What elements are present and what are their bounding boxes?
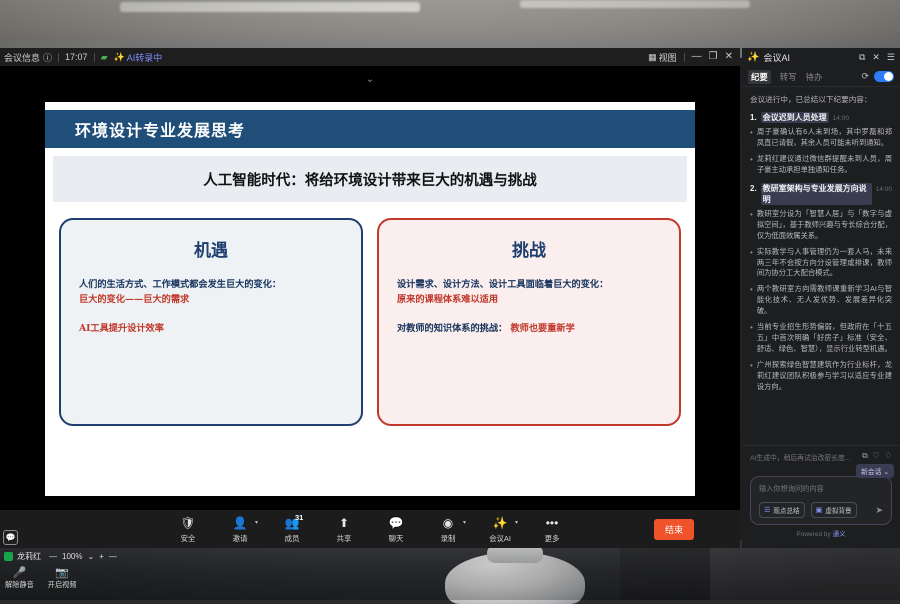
ai-recording-status: ✨ AI转录中: [113, 51, 162, 64]
screen: 会议信息 ⓘ 17:07 ▰ ✨ AI转录中 ▦ 视图 — ❐ ✕: [0, 0, 900, 600]
divider: [684, 53, 685, 62]
share-stage: ⌄ 环境设计专业发展思考 人工智能时代：将给环境设计带来巨大的机遇与挑战 机遇 …: [0, 66, 740, 528]
card-challenge-line3-dark: 对教师的知识体系的挑战：: [397, 323, 507, 334]
toolbar-item-invite[interactable]: 👤 ▾ 邀请: [222, 514, 258, 544]
end-meeting-button[interactable]: 结束: [654, 519, 694, 540]
ai-quick-chips: ☰ 观点总结 ▣ 虚拟背景 ➤: [759, 502, 883, 518]
card-opportunity-title: 机遇: [79, 236, 343, 261]
auto-summary-toggle[interactable]: [874, 71, 894, 82]
bullet-dot: •: [750, 127, 753, 149]
restore-button[interactable]: ❐: [709, 52, 718, 62]
camera-off-icon: 📷: [55, 566, 69, 579]
image-icon: ▣: [816, 506, 823, 514]
zoom-out-button[interactable]: —: [49, 552, 57, 561]
bullet-text: 龙莉红建议通过微信群提醒未到人员，周子豪主动承担单独通知任务。: [757, 154, 892, 176]
ai-recording-label: AI转录中: [127, 51, 163, 64]
chat-bubble-icon: 💬: [388, 514, 405, 531]
section-timestamp: 14:00: [876, 186, 892, 193]
summary-bullet: • 实际教学与人事管理仍为一套人马，未来两三年不会按方向分设管理或排课，教师间为…: [750, 247, 892, 280]
card-challenge-line3: 对教师的知识体系的挑战： 教师也要重新学: [397, 321, 661, 336]
summary-section-header: 2. 教研室架构与专业发展方向说明 14:00: [750, 183, 892, 205]
spacer: [397, 307, 661, 321]
camera-toggle-label: 开启视频: [48, 580, 77, 590]
section-title: 教研室架构与专业发展方向说明: [761, 183, 872, 205]
powered-by-prefix: Powered by: [796, 531, 832, 538]
summary-bullet: • 龙莉红建议通过微信群提醒未到人员，周子豪主动承担单独通知任务。: [750, 154, 892, 176]
toolbar-label-chat: 聊天: [389, 533, 404, 544]
ai-input-placeholder: 输入你想询问的内容: [759, 484, 883, 494]
slide-cards: 机遇 人们的生活方式、工作模式都会发生巨大的变化： 巨大的变化——巨大的需求 A…: [45, 202, 695, 426]
bullet-text: 两个教研室方向需教师课重新学习AI与智能化技术、无人发优势、发展差异化突破。: [757, 284, 892, 317]
thumbs-down-icon[interactable]: ♢: [885, 451, 892, 461]
chevron-down-icon[interactable]: ▾: [515, 519, 518, 526]
card-challenge-title: 挑战: [397, 236, 661, 261]
summary-bullet: • 教研室分设为「智慧人居」与「数字与虚拟空间」，基于教师兴趣与专长综合分配，仅…: [750, 209, 892, 242]
bullet-dot: •: [750, 360, 753, 393]
slide-header-title: 环境设计专业发展思考: [75, 117, 245, 141]
close-button[interactable]: ✕: [725, 52, 733, 62]
card-challenge: 挑战 设计需求、设计方法、设计工具面临着巨大的变化： 原来的课程体系难以适用 对…: [377, 218, 681, 426]
spacer: [79, 307, 343, 321]
mic-toggle-label: 解除静音: [5, 580, 34, 590]
copy-icon[interactable]: ⧉: [862, 451, 868, 461]
tab-transcript[interactable]: 转写: [780, 71, 797, 83]
toolbar-label-more: 更多: [545, 533, 560, 544]
hamburger-icon[interactable]: ☰: [887, 52, 895, 63]
toolbar-item-share[interactable]: ⬆ 共享: [326, 514, 362, 544]
toolbar-label-meeting-ai: 会议AI: [489, 533, 511, 544]
bullet-text: 教研室分设为「智慧人居」与「数字与虚拟空间」，基于教师兴趣与专长综合分配，仅为低…: [757, 209, 892, 242]
zoom-in-button[interactable]: +: [99, 552, 104, 561]
card-opportunity-line2: 巨大的变化——巨大的需求: [79, 292, 343, 307]
av-controls: 🎤 解除静音 📷 开启视频: [5, 566, 77, 590]
sparkle-icon: ✨: [747, 52, 759, 63]
toolbar-item-participants[interactable]: 👥 31 成员: [274, 514, 310, 544]
slide-header: 环境设计专业发展思考: [45, 110, 695, 148]
ai-footer: AI生成中，稍后再试治改密长度... ⧉ ♡ ♢ 新会话 ⌄: [742, 445, 900, 468]
bullet-text: 周子豪确认有6人未到场，其中罗磊和郑凤直已请假，其余人员可能未听到通知。: [757, 127, 892, 149]
chip-label: 虚拟背景: [825, 505, 851, 515]
toolbar-item-chat[interactable]: 💬 聊天: [378, 514, 414, 544]
slide-subtitle: 人工智能时代：将给环境设计带来巨大的机遇与挑战: [203, 169, 537, 190]
ai-panel-actions: ⧉ ✕ ☰: [859, 52, 895, 63]
ai-panel-titlebar: ✨ 会议AI ⧉ ✕ ☰: [742, 48, 900, 67]
zoom-more-button[interactable]: —: [109, 552, 117, 561]
participants-count: 31: [295, 513, 303, 522]
sparkle-icon: ✨: [492, 514, 509, 531]
zoom-value: 100%: [62, 552, 82, 561]
divider: [58, 53, 59, 62]
view-button[interactable]: ▦ 视图: [648, 51, 677, 64]
meeting-timer: 17:07: [65, 52, 88, 62]
titlebar-right-controls: ▦ 视图 — ❐ ✕: [648, 51, 736, 64]
close-icon[interactable]: ✕: [872, 52, 880, 63]
summary-bullet: • 广州探索绿色智慧建筑作为行业标杆，龙莉红建议团队积极参与学习以适应专业建设方…: [750, 360, 892, 393]
chevron-down-icon[interactable]: ⌄: [366, 74, 374, 85]
toolbar-item-more[interactable]: ••• 更多: [534, 514, 570, 544]
bullet-text: 广州探索绿色智慧建筑作为行业标杆，龙莉红建议团队积极参与学习以适应专业建设方向。: [757, 360, 892, 393]
person-add-icon: 👤: [232, 514, 249, 531]
bullet-dot: •: [750, 284, 753, 317]
mic-active-indicator: [4, 552, 13, 561]
new-chat-button[interactable]: 新会话 ⌄: [856, 464, 894, 478]
chip-virtual-background[interactable]: ▣ 虚拟背景: [811, 502, 857, 518]
meeting-toolbar: 🛡 安全 👤 ▾ 邀请 👥 31 成员 ⬆ 共享: [0, 510, 740, 548]
list-icon: ☰: [764, 506, 770, 514]
card-opportunity-line3: AI工具提升设计效率: [79, 321, 343, 336]
bullet-text: 当前专业招生形势偏弱，但政府在「十五五」中首次明确「好房子」标准（安全、舒适、绿…: [757, 322, 892, 355]
meeting-ai-panel: ✨ 会议AI ⧉ ✕ ☰ 纪要 转写 待办 ⟳ 会议进行中，已总结以下纪要内容：…: [742, 48, 900, 548]
ellipsis-icon: •••: [544, 514, 561, 531]
popout-icon[interactable]: ⧉: [859, 52, 865, 63]
section-timestamp: 14:00: [833, 115, 849, 122]
ai-input-area: 输入你想询问的内容 ☰ 观点总结 ▣ 虚拟背景 ➤ Powered by 通义: [742, 468, 900, 548]
slide-subtitle-band: 人工智能时代：将给环境设计带来巨大的机遇与挑战: [53, 156, 687, 202]
meeting-info-label: 会议信息: [4, 51, 40, 64]
bullet-dot: •: [750, 154, 753, 176]
toolbar-item-record[interactable]: ◉ ▾ 录制: [430, 514, 466, 544]
thumbs-up-icon[interactable]: ♡: [873, 451, 880, 461]
chat-icon[interactable]: 💬: [3, 530, 18, 545]
section-number: 2.: [750, 184, 757, 193]
ai-footer-icons: ⧉ ♡ ♢: [862, 451, 892, 461]
speaker-name-bar: 龙莉红 — 100% ⌄ + —: [4, 551, 117, 562]
toolbar-label-record: 录制: [441, 533, 456, 544]
ai-summary-body: 会议进行中，已总结以下纪要内容： 1. 会议迟到人员处理 14:00 • 周子豪…: [742, 87, 900, 445]
sparkle-icon: ✨: [113, 52, 124, 63]
toolbar-item-meeting-ai[interactable]: ✨ ▾ 会议AI: [482, 514, 518, 544]
chip-label: 观点总结: [773, 505, 799, 515]
ai-input-box[interactable]: 输入你想询问的内容 ☰ 观点总结 ▣ 虚拟背景 ➤: [750, 476, 892, 525]
view-label: 视图: [659, 51, 677, 64]
zoom-control: — 100% ⌄ + —: [49, 552, 117, 561]
card-opportunity-line1: 人们的生活方式、工作模式都会发生巨大的变化：: [79, 277, 343, 292]
signal-icon: ▰: [101, 52, 108, 63]
shared-slide: 环境设计专业发展思考 人工智能时代：将给环境设计带来巨大的机遇与挑战 机遇 人们…: [45, 102, 695, 496]
summary-bullet: • 当前专业招生形势偏弱，但政府在「十五五」中首次明确「好房子」标准（安全、舒适…: [750, 322, 892, 355]
mic-toggle[interactable]: 🎤 解除静音: [5, 566, 34, 590]
camera-toggle[interactable]: 📷 开启视频: [48, 566, 77, 590]
toolbar-label-participants: 成员: [285, 533, 300, 544]
toolbar-label-invite: 邀请: [233, 533, 248, 544]
tab-summary[interactable]: 纪要: [748, 70, 771, 84]
grid-icon: ▦: [648, 52, 657, 63]
toolbar-item-security[interactable]: 🛡 安全: [170, 514, 206, 544]
tab-todo[interactable]: 待办: [806, 71, 823, 83]
info-circle-icon[interactable]: ⓘ: [43, 51, 52, 64]
summary-bullet: • 两个教研室方向需教师课重新学习AI与智能化技术、无人发优势、发展差异化突破。: [750, 284, 892, 317]
card-opportunity: 机遇 人们的生活方式、工作模式都会发生巨大的变化： 巨大的变化——巨大的需求 A…: [59, 218, 363, 426]
bullet-text: 实际教学与人事管理仍为一套人马，未来两三年不会按方向分设管理或排课，教师间为协分…: [757, 247, 892, 280]
slide-top-margin: [45, 102, 695, 110]
chip-viewpoint-summary[interactable]: ☰ 观点总结: [759, 502, 805, 518]
card-challenge-line2: 原来的课程体系难以适用: [397, 292, 661, 307]
toolbar-items: 🛡 安全 👤 ▾ 邀请 👥 31 成员 ⬆ 共享: [170, 514, 570, 544]
chevron-down-icon[interactable]: ⌄: [87, 552, 94, 561]
minimize-button[interactable]: —: [692, 52, 702, 62]
toolbar-label-share: 共享: [337, 533, 352, 544]
meeting-window: 会议信息 ⓘ 17:07 ▰ ✨ AI转录中 ▦ 视图 — ❐ ✕: [0, 48, 740, 548]
record-circle-icon: ◉: [440, 514, 457, 531]
bullet-dot: •: [750, 247, 753, 280]
ai-tabs-right: ⟳: [861, 71, 894, 82]
meeting-info-button[interactable]: 会议信息 ⓘ: [4, 51, 52, 64]
meeting-titlebar: 会议信息 ⓘ 17:07 ▰ ✨ AI转录中 ▦ 视图 — ❐ ✕: [0, 48, 740, 66]
section-number: 1.: [750, 113, 757, 122]
speaker-name: 龙莉红: [17, 551, 41, 562]
ai-panel-title: 会议AI: [763, 51, 790, 64]
card-challenge-line3-red: 教师也要重新学: [510, 323, 574, 334]
chevron-down-icon[interactable]: ▾: [255, 519, 258, 526]
refresh-icon[interactable]: ⟳: [861, 71, 869, 82]
share-screen-icon: ⬆: [336, 514, 353, 531]
section-title: 会议迟到人员处理: [761, 112, 829, 123]
divider: [94, 53, 95, 62]
card-challenge-line1: 设计需求、设计方法、设计工具面临着巨大的变化：: [397, 277, 661, 292]
mic-off-icon: 🎤: [13, 566, 27, 579]
powered-by-brand: 通义: [833, 531, 846, 538]
chevron-down-icon[interactable]: ▾: [463, 519, 466, 526]
toolbar-label-security: 安全: [181, 533, 196, 544]
send-icon[interactable]: ➤: [875, 505, 883, 516]
summary-section-header: 1. 会议迟到人员处理 14:00: [750, 112, 892, 123]
ai-panel-tabs: 纪要 转写 待办 ⟳: [742, 67, 900, 87]
summary-bullet: • 周子豪确认有6人未到场，其中罗磊和郑凤直已请假，其余人员可能未听到通知。: [750, 127, 892, 149]
bullet-dot: •: [750, 322, 753, 355]
shield-icon: 🛡: [180, 514, 197, 531]
ai-lead-text: 会议进行中，已总结以下纪要内容：: [750, 94, 892, 105]
bullet-dot: •: [750, 209, 753, 242]
powered-by: Powered by 通义: [750, 525, 892, 544]
